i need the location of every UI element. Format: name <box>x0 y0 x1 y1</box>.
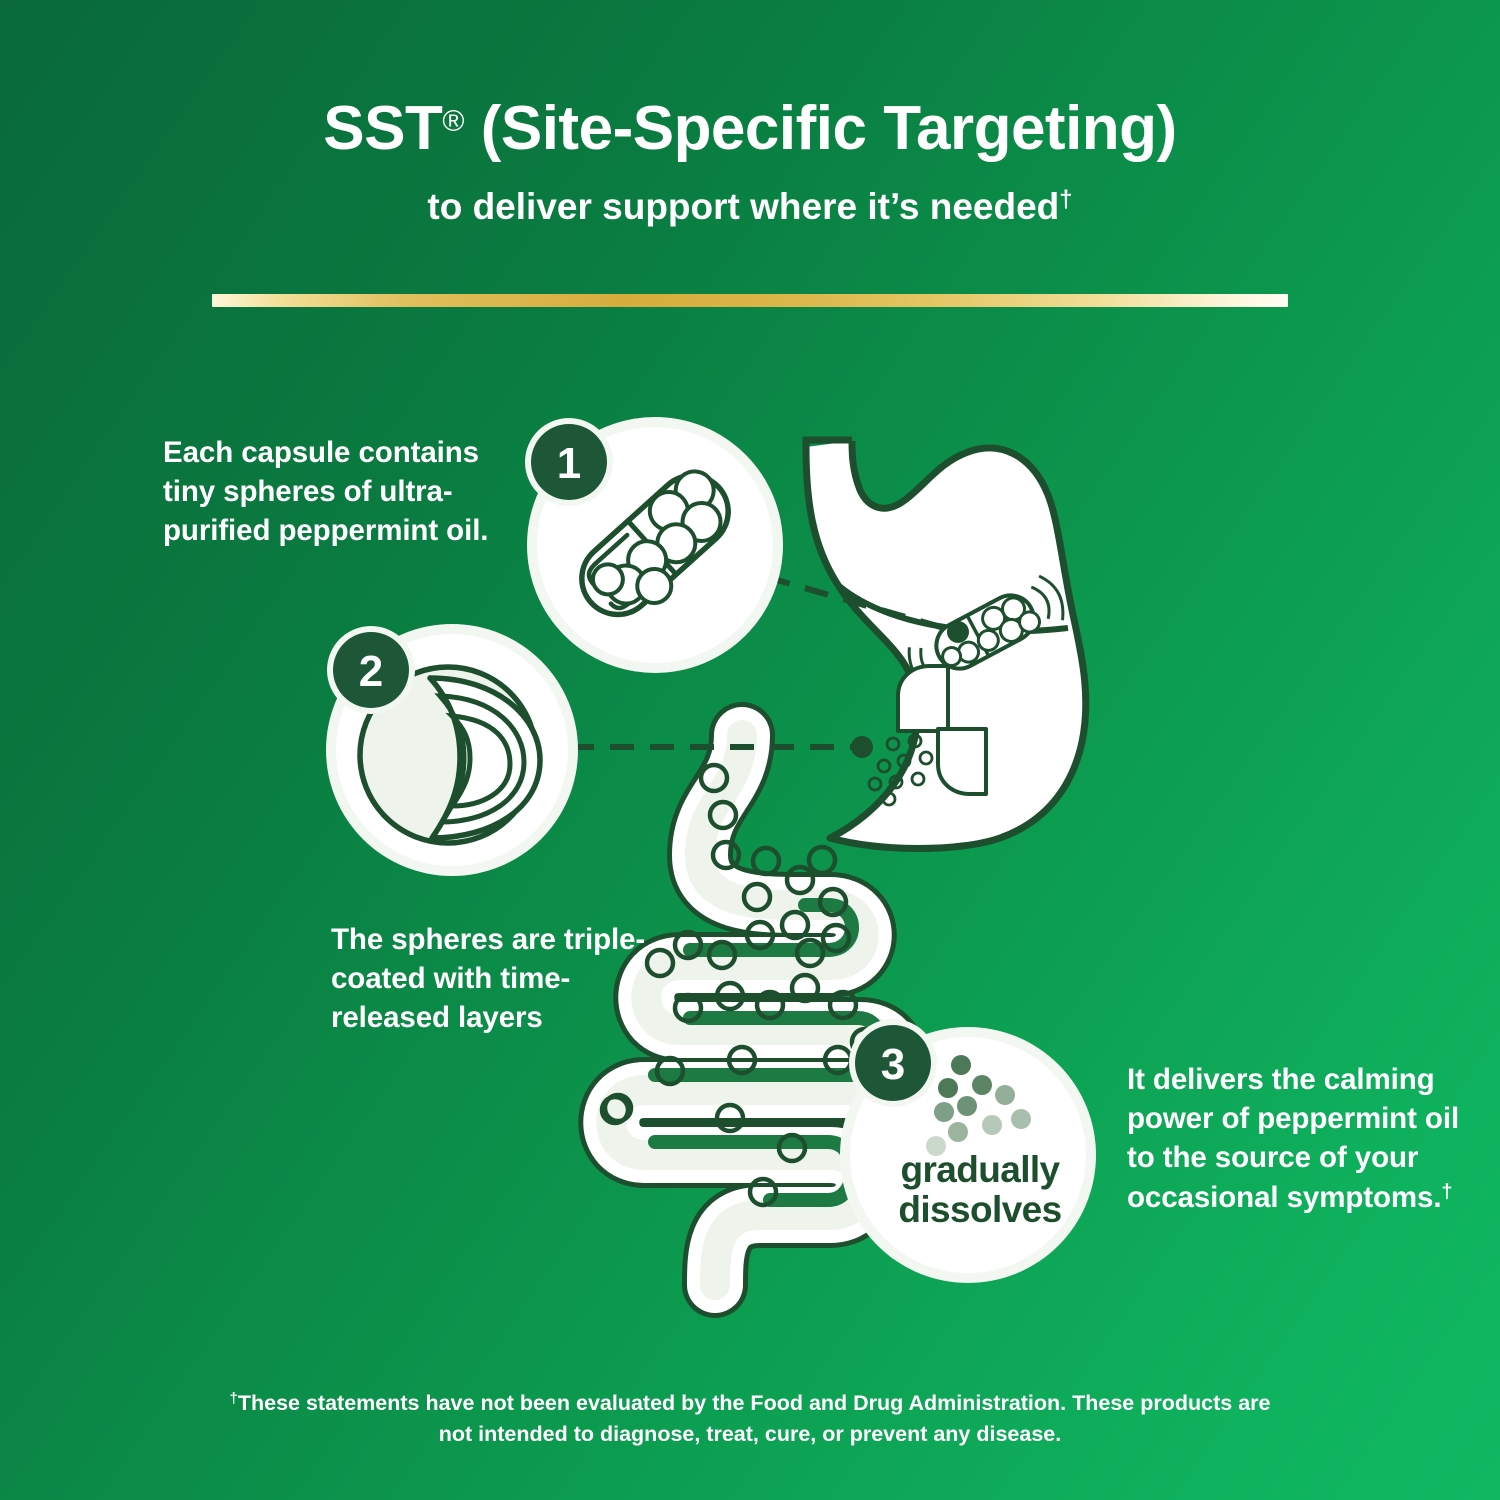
step-3-dagger: † <box>1441 1181 1452 1203</box>
step-3-description: It delivers the calming power of pepperm… <box>1127 1060 1467 1217</box>
footnote-line-1: These statements have not been evaluated… <box>238 1391 1134 1415</box>
page-subtitle: to deliver support where it’s needed† <box>0 187 1500 228</box>
step-1-badge: 1 <box>525 418 613 506</box>
header: SST® (Site-Specific Targeting) to delive… <box>0 0 1500 228</box>
dissolve-line-1: gradually <box>880 1150 1080 1190</box>
dashed-leader-line-capsule <box>728 566 969 643</box>
stomach <box>806 440 1086 849</box>
title-brand: SST <box>323 94 442 163</box>
step-1-bubble: 1 <box>525 417 783 673</box>
page-title: SST® (Site-Specific Targeting) <box>0 96 1500 161</box>
step-2-badge: 2 <box>327 626 415 714</box>
title-rest: (Site-Specific Targeting) <box>464 94 1177 163</box>
step-3-description-text: It delivers the calming power of pepperm… <box>1127 1063 1459 1214</box>
registered-trademark-icon: ® <box>442 105 464 138</box>
step-2-description: The spheres are triple-coated with time-… <box>331 920 661 1038</box>
subtitle-text: to deliver support where it’s needed <box>427 186 1059 227</box>
dissolve-line-2: dissolves <box>880 1190 1080 1230</box>
step-2-bubble: 2 <box>326 624 578 876</box>
step-1-number: 1 <box>557 439 581 488</box>
released-spheres-icon <box>869 735 932 805</box>
capsule-with-spheres-icon <box>567 461 750 638</box>
infographic-root: SST® (Site-Specific Targeting) to delive… <box>0 0 1500 1500</box>
dagger-symbol: † <box>1059 186 1072 213</box>
footnote-disclaimer: †These statements have not been evaluate… <box>0 1388 1500 1449</box>
opened-capsule-icon <box>869 666 986 805</box>
capsule-in-stomach-icon <box>902 572 1071 693</box>
step-3-number: 3 <box>881 1040 905 1089</box>
gradually-dissolves-label: gradually dissolves <box>880 1150 1080 1229</box>
triple-coated-sphere-icon <box>360 667 540 843</box>
step-3-badge: 3 <box>849 1019 937 1107</box>
footnote-dagger: † <box>230 1390 238 1407</box>
gold-divider <box>212 294 1288 307</box>
step-1-description: Each capsule contains tiny spheres of ul… <box>163 433 523 551</box>
dashed-leader-line-sphere <box>530 736 873 758</box>
step-2-number: 2 <box>359 647 383 696</box>
dissolving-particles-icon <box>926 1055 1031 1156</box>
